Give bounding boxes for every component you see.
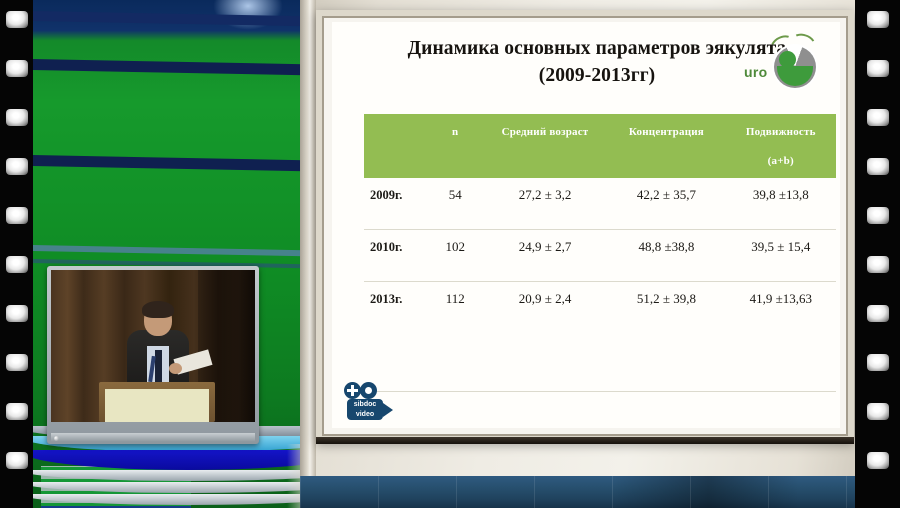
speaker-video-inset xyxy=(47,266,259,444)
cell-average-age: 24,9 ± 2,7 xyxy=(483,230,608,282)
speaker-video-screen xyxy=(51,270,255,422)
uro-logo-text: uro xyxy=(744,64,767,80)
plus-circle-icon xyxy=(344,382,361,399)
column-header-motility: Подвижность (a+b) xyxy=(726,114,836,178)
film-sprocket-hole xyxy=(867,403,889,420)
column-header-average-age: Средний возраст xyxy=(483,114,608,178)
cell-concentration: 51,2 ± 39,8 xyxy=(607,282,725,334)
cell-average-age: 20,9 ± 2,4 xyxy=(483,282,608,334)
film-sprocket-hole xyxy=(867,158,889,175)
cell-n: 102 xyxy=(428,230,483,282)
ejaculate-parameters-table: n Средний возраст Концентрация Подвижнос… xyxy=(364,114,836,333)
watermark-label: sibdoc video xyxy=(347,399,383,420)
film-strip-right xyxy=(855,0,900,508)
lectern xyxy=(99,382,215,422)
projection-board-shadow xyxy=(316,437,854,444)
speaker-hand xyxy=(169,363,182,374)
projection-board-frame: Динамика основных параметров эякулята (2… xyxy=(322,16,848,436)
watermark-line1: sibdoc xyxy=(354,401,377,408)
slide-title-line1: Динамика основных параметров эякулята xyxy=(408,38,787,59)
backdrop-stripe xyxy=(33,155,323,172)
table-row: 2013г. 112 20,9 ± 2,4 51,2 ± 39,8 41,9 ±… xyxy=(364,282,836,334)
table-footer-rule xyxy=(364,391,836,420)
film-sprocket-hole xyxy=(867,109,889,126)
uro-logo: uro xyxy=(744,34,818,96)
cell-motility: 41,9 ±13,63 xyxy=(726,282,836,334)
film-sprocket-hole xyxy=(867,354,889,371)
cell-motility: 39,8 ±13,8 xyxy=(726,178,836,230)
cell-year: 2010г. xyxy=(364,230,428,282)
film-sprocket-hole xyxy=(6,109,28,126)
wall-pillar xyxy=(300,0,316,508)
dot-circle-icon xyxy=(360,382,377,399)
column-header-motility-label: Подвижность xyxy=(746,126,816,138)
cell-motility: 39,5 ± 15,4 xyxy=(726,230,836,282)
slide-title-line2: (2009-2013гг) xyxy=(539,65,656,86)
film-sprocket-hole xyxy=(6,452,28,469)
film-sprocket-hole xyxy=(6,305,28,322)
inset-indicator-led xyxy=(54,436,59,441)
lectern-panel xyxy=(105,389,209,422)
column-header-n: n xyxy=(428,114,483,178)
film-sprocket-hole xyxy=(867,60,889,77)
wall-blue-band xyxy=(300,476,867,508)
watermark-line2: video xyxy=(356,411,374,418)
film-sprocket-hole xyxy=(867,305,889,322)
uro-bug-icon xyxy=(772,44,818,90)
projection-board: Динамика основных параметров эякулята (2… xyxy=(316,10,854,442)
camera-lens-icon xyxy=(383,403,393,417)
speaker-tie xyxy=(155,350,162,384)
uro-bug-dot xyxy=(779,51,796,68)
backdrop-stripe xyxy=(33,245,323,257)
table-row: 2009г. 54 27,2 ± 3,2 42,2 ± 35,7 39,8 ±1… xyxy=(364,178,836,230)
presentation-slide: Динамика основных параметров эякулята (2… xyxy=(332,22,840,428)
video-frame: Динамика основных параметров эякулята (2… xyxy=(0,0,900,508)
cell-year: 2013г. xyxy=(364,282,428,334)
table-row: 2010г. 102 24,9 ± 2,7 48,8 ±38,8 39,5 ± … xyxy=(364,230,836,282)
table-header: n Средний возраст Концентрация Подвижнос… xyxy=(364,114,836,178)
cell-average-age: 27,2 ± 3,2 xyxy=(483,178,608,230)
film-sprocket-hole xyxy=(867,11,889,28)
column-header-motility-sub: (a+b) xyxy=(728,155,834,167)
cell-year: 2009г. xyxy=(364,178,428,230)
uro-bug-body xyxy=(777,66,813,86)
sibdoc-video-watermark: sibdoc video xyxy=(344,382,398,422)
speaker-hair xyxy=(142,301,174,318)
film-sprocket-hole xyxy=(6,11,28,28)
cell-n: 112 xyxy=(428,282,483,334)
cell-n: 54 xyxy=(428,178,483,230)
film-sprocket-hole xyxy=(867,452,889,469)
film-sprocket-hole xyxy=(6,256,28,273)
film-sprocket-hole xyxy=(6,403,28,420)
film-sprocket-hole xyxy=(6,158,28,175)
film-sprocket-hole xyxy=(6,207,28,224)
cell-concentration: 42,2 ± 35,7 xyxy=(607,178,725,230)
column-header-year xyxy=(364,114,428,178)
table-header-row: n Средний возраст Концентрация Подвижнос… xyxy=(364,114,836,178)
cell-concentration: 48,8 ±38,8 xyxy=(607,230,725,282)
film-strip-left xyxy=(0,0,33,508)
film-sprocket-hole xyxy=(6,354,28,371)
inset-bezel-bar xyxy=(51,433,255,442)
film-sprocket-hole xyxy=(867,207,889,224)
backdrop-stripe xyxy=(33,59,323,76)
film-sprocket-hole xyxy=(6,60,28,77)
column-header-concentration: Концентрация xyxy=(607,114,725,178)
table-body: 2009г. 54 27,2 ± 3,2 42,2 ± 35,7 39,8 ±1… xyxy=(364,178,836,333)
film-sprocket-hole xyxy=(867,256,889,273)
